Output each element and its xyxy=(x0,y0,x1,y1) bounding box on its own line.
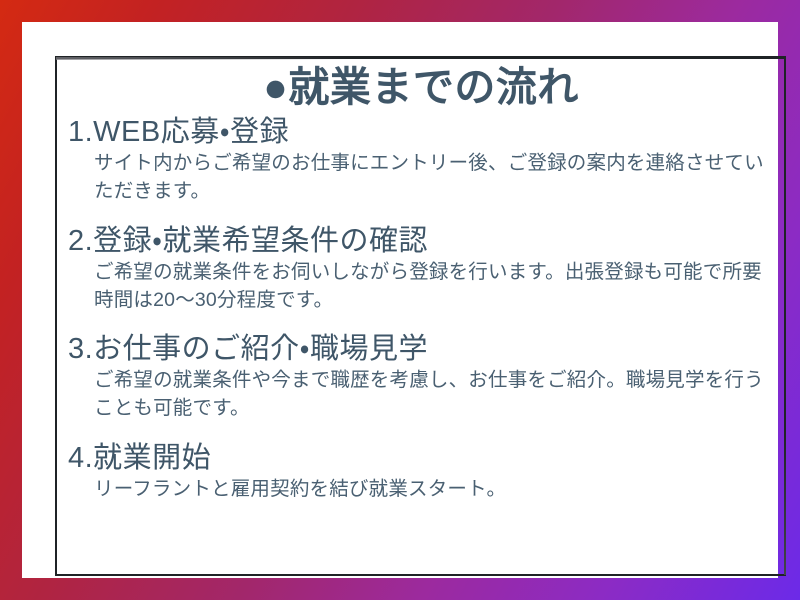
step-heading-4: 4.就業開始 xyxy=(68,441,774,475)
page-title: ●就業までの流れ xyxy=(68,66,774,109)
step-body-4: リーフラントと雇用契約を結び就業スタート。 xyxy=(94,476,766,504)
step-body-3: ご希望の就業条件や今まで職歴を考慮し、お仕事をご紹介。職場見学を行うことも可能で… xyxy=(94,367,766,422)
step-heading-1: 1.WEB応募・登録 xyxy=(68,115,774,149)
step-body-2: ご希望の就業条件をお伺いしながら登録を行います。出張登録も可能で所要時間は20〜… xyxy=(94,259,766,314)
step-body-1: サイト内からご希望のお仕事にエントリー後、ご登録の案内を連絡させていただきます。 xyxy=(94,150,766,205)
slide-page-surface: ●就業までの流れ 1.WEB応募・登録 サイト内からご希望のお仕事にエントリー後… xyxy=(22,22,778,578)
slide-root: ●就業までの流れ 1.WEB応募・登録 サイト内からご希望のお仕事にエントリー後… xyxy=(0,0,800,600)
slide-content: ●就業までの流れ 1.WEB応募・登録 サイト内からご希望のお仕事にエントリー後… xyxy=(68,62,774,570)
step-item-1: 1.WEB応募・登録 サイト内からご希望のお仕事にエントリー後、ご登録の案内を連… xyxy=(68,115,774,206)
step-item-3: 3.お仕事のご紹介・職場見学 ご希望の就業条件や今まで職歴を考慮し、お仕事をご紹… xyxy=(68,332,774,423)
step-heading-3: 3.お仕事のご紹介・職場見学 xyxy=(68,332,774,366)
step-item-4: 4.就業開始 リーフラントと雇用契約を結び就業スタート。 xyxy=(68,441,774,504)
step-item-2: 2.登録・就業希望条件の確認 ご希望の就業条件をお伺いしながら登録を行います。出… xyxy=(68,224,774,315)
step-heading-2: 2.登録・就業希望条件の確認 xyxy=(68,224,774,258)
